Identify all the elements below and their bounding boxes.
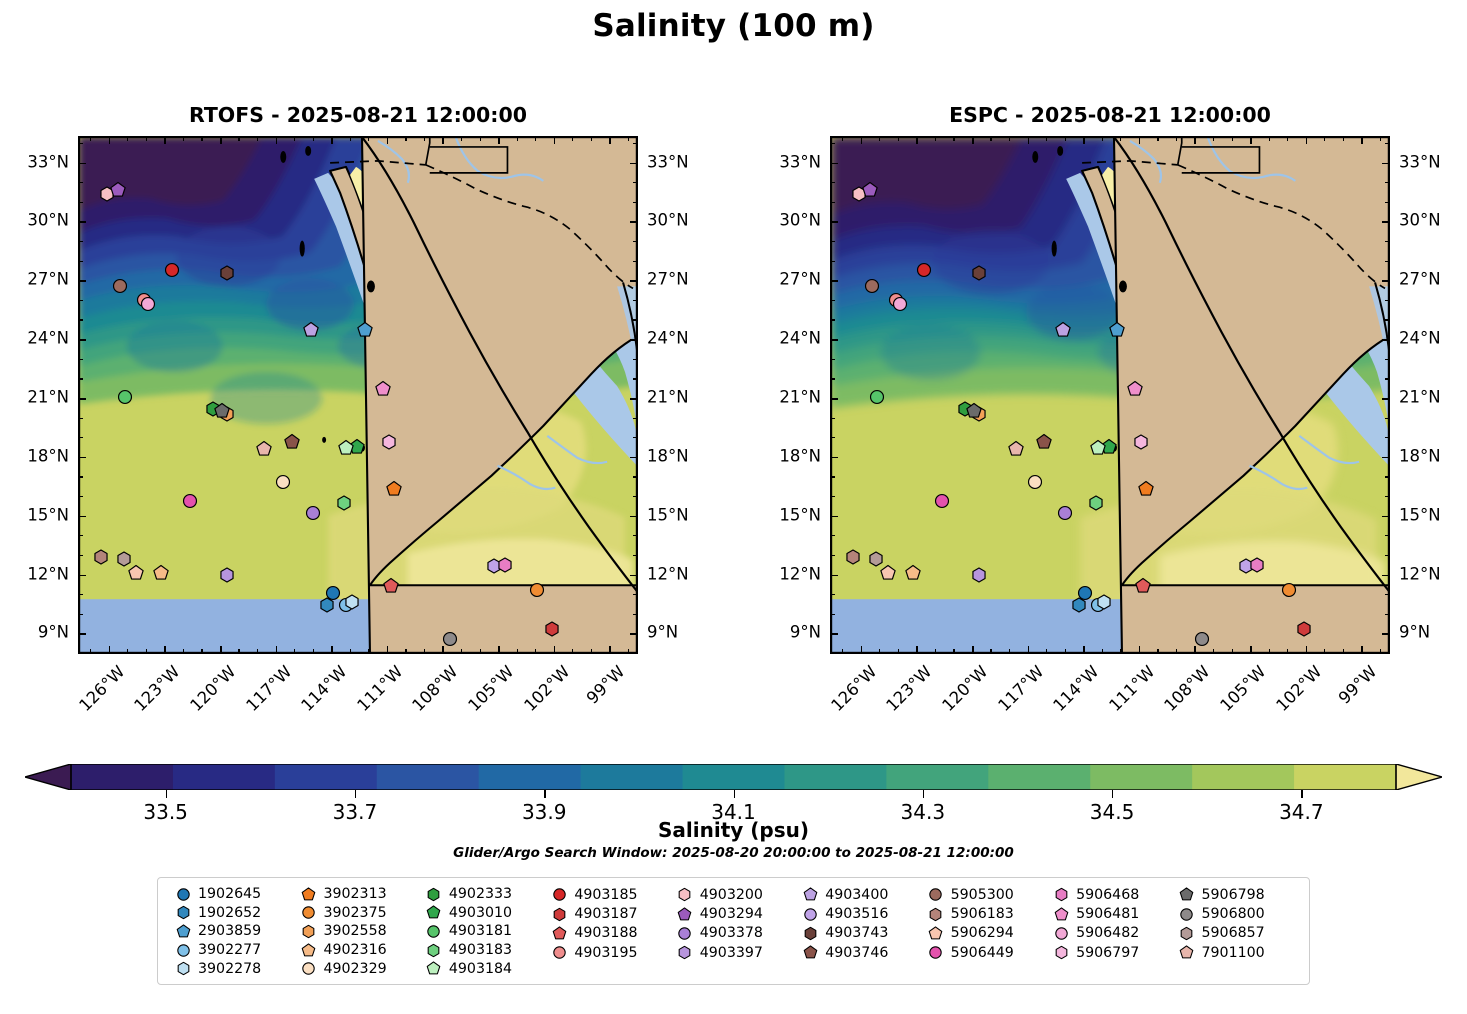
platform-legend[interactable]: 1902645190265229038593902277390227839023… <box>157 877 1310 985</box>
legend-marker-icon <box>1048 926 1074 941</box>
legend-item-label: 5906183 <box>949 906 1014 922</box>
panel-title-espc: ESPC - 2025-08-21 12:00:00 <box>830 103 1390 127</box>
latitude-label: 30°N <box>1399 211 1441 230</box>
legend-item[interactable]: 4903397 <box>672 943 797 962</box>
latitude-label: 18°N <box>647 446 689 465</box>
legend-marker-icon <box>923 945 949 960</box>
legend-item[interactable]: 4903188 <box>546 924 671 943</box>
legend-item[interactable]: 4902316 <box>295 941 420 960</box>
colorbar-tick <box>544 790 545 798</box>
legend-column: 39023133902375390255849023164902329 <box>295 885 420 978</box>
legend-item[interactable]: 5906800 <box>1174 904 1299 923</box>
legend-marker-icon <box>1174 887 1200 902</box>
map-panel-rtofs: RTOFS - 2025-08-21 12:00:00 <box>78 136 638 654</box>
legend-marker-icon <box>295 887 321 902</box>
longitude-label: 117°W <box>994 662 1047 715</box>
latitude-label: 27°N <box>647 270 689 289</box>
legend-marker-icon <box>546 887 572 902</box>
legend-item-label: 4903294 <box>698 906 763 922</box>
legend-marker-icon <box>1174 907 1200 922</box>
legend-item-label: 5905300 <box>949 887 1014 903</box>
latitude-label: 21°N <box>27 387 69 406</box>
legend-item-label: 5906481 <box>1074 906 1139 922</box>
legend-item[interactable]: 3902375 <box>295 904 420 923</box>
legend-item-label: 5906294 <box>949 925 1014 941</box>
legend-item[interactable]: 5906857 <box>1174 924 1299 943</box>
legend-item[interactable]: 4903378 <box>672 924 797 943</box>
legend-item-label: 4902316 <box>321 942 386 958</box>
latitude-label: 24°N <box>27 329 69 348</box>
legend-item-label: 5906797 <box>1074 945 1139 961</box>
longitude-label: 114°W <box>298 662 351 715</box>
latitude-label: 15°N <box>647 505 689 524</box>
latitude-label: 30°N <box>27 211 69 230</box>
legend-item[interactable]: 4902333 <box>421 885 546 904</box>
legend-column: 5905300590618359062945906449 <box>923 885 1048 978</box>
legend-item[interactable]: 5906183 <box>923 904 1048 923</box>
legend-marker-icon <box>170 924 196 939</box>
legend-marker-icon <box>923 926 949 941</box>
colorbar-tick <box>1112 790 1113 798</box>
legend-column: 49023334903010490318149031834903184 <box>421 885 546 978</box>
longitude-label: 120°W <box>938 662 991 715</box>
legend-marker-icon <box>923 907 949 922</box>
legend-item-label: 5906482 <box>1074 925 1139 941</box>
longitude-label: 102°W <box>520 662 573 715</box>
longitude-label: 105°W <box>464 662 517 715</box>
legend-item[interactable]: 5906468 <box>1048 885 1173 904</box>
legend-item-label: 5906798 <box>1200 887 1265 903</box>
legend-item[interactable]: 5906449 <box>923 943 1048 962</box>
legend-marker-icon <box>672 945 698 960</box>
legend-item-label: 2903859 <box>196 923 261 939</box>
longitude-label: 102°W <box>1272 662 1325 715</box>
legend-marker-icon <box>1048 907 1074 922</box>
latitude-label: 12°N <box>27 564 69 583</box>
legend-item[interactable]: 5906797 <box>1048 943 1173 962</box>
latitude-label: 24°N <box>779 329 821 348</box>
legend-item[interactable]: 4903200 <box>672 885 797 904</box>
legend-item[interactable]: 4903746 <box>797 943 922 962</box>
longitude-label: 108°W <box>1161 662 1214 715</box>
legend-item-label: 4902329 <box>321 961 386 977</box>
legend-marker-icon <box>170 961 196 976</box>
legend-item[interactable]: 7901100 <box>1174 943 1299 962</box>
latitude-label: 21°N <box>647 387 689 406</box>
legend-item[interactable]: 3902558 <box>295 922 420 941</box>
colorbar-tick <box>923 790 924 798</box>
legend-item-label: 4903400 <box>823 887 888 903</box>
legend-column: 5906468590648159064825906797 <box>1048 885 1173 978</box>
legend-marker-icon <box>170 943 196 958</box>
colorbar-tick <box>734 790 735 798</box>
legend-marker-icon <box>170 905 196 920</box>
latitude-label: 27°N <box>1399 270 1441 289</box>
legend-item-label: 4903378 <box>698 925 763 941</box>
legend-item-label: 1902645 <box>196 886 261 902</box>
legend-marker-icon <box>1048 887 1074 902</box>
legend-item[interactable]: 5906481 <box>1048 904 1173 923</box>
legend-marker-icon <box>170 887 196 902</box>
latitude-label: 12°N <box>647 564 689 583</box>
longitude-label: 99°W <box>583 662 629 708</box>
legend-item[interactable]: 4903187 <box>546 904 671 923</box>
legend-item-label: 4903188 <box>572 925 637 941</box>
legend-item[interactable]: 1902652 <box>170 904 295 923</box>
colorbar-tick <box>355 790 356 798</box>
legend-item-label: 4903516 <box>823 906 888 922</box>
legend-item-label: 4903185 <box>572 887 637 903</box>
legend-marker-icon <box>546 907 572 922</box>
legend-marker-icon <box>546 945 572 960</box>
latitude-label: 27°N <box>779 270 821 289</box>
latitude-label: 33°N <box>779 152 821 171</box>
latitude-label: 15°N <box>27 505 69 524</box>
colorbar-tick <box>166 790 167 798</box>
legend-item[interactable]: 4902329 <box>295 959 420 978</box>
legend-marker-icon <box>421 943 447 958</box>
legend-marker-icon <box>1174 945 1200 960</box>
longitude-label: 117°W <box>242 662 295 715</box>
longitude-label: 108°W <box>409 662 462 715</box>
legend-item-label: 3902375 <box>321 905 386 921</box>
latitude-label: 30°N <box>779 211 821 230</box>
longitude-label: 123°W <box>131 662 184 715</box>
legend-item[interactable]: 3902313 <box>295 885 420 904</box>
latitude-label: 12°N <box>1399 564 1441 583</box>
legend-column: 5906798590680059068577901100 <box>1174 885 1299 978</box>
legend-column: 4903400490351649037434903746 <box>797 885 922 978</box>
legend-item-label: 4903743 <box>823 925 888 941</box>
legend-column: 19026451902652290385939022773902278 <box>170 885 295 978</box>
legend-item[interactable]: 4903184 <box>421 959 546 978</box>
map-panel-espc: ESPC - 2025-08-21 12:00:00 <box>830 136 1390 654</box>
legend-marker-icon <box>1048 945 1074 960</box>
legend-item[interactable]: 3902278 <box>170 959 295 978</box>
legend-marker-icon <box>421 905 447 920</box>
legend-column: 4903185490318749031884903195 <box>546 885 671 978</box>
legend-item[interactable]: 4903400 <box>797 885 922 904</box>
legend-item-label: 4903181 <box>447 923 512 939</box>
legend-marker-icon <box>295 924 321 939</box>
latitude-label: 21°N <box>779 387 821 406</box>
legend-marker-icon <box>672 926 698 941</box>
figure-title: Salinity (100 m) <box>0 8 1467 44</box>
legend-marker-icon <box>546 926 572 941</box>
latitude-label: 30°N <box>647 211 689 230</box>
colorbar-label: Salinity (psu) <box>0 818 1467 842</box>
latitude-label: 33°N <box>27 152 69 171</box>
latitude-label: 33°N <box>647 152 689 171</box>
longitude-label: 120°W <box>186 662 239 715</box>
legend-marker-icon <box>295 943 321 958</box>
longitude-labels-right: 126°W123°W120°W117°W114°W111°W108°W105°W… <box>830 136 1390 654</box>
legend-item[interactable]: 5906798 <box>1174 885 1299 904</box>
latitude-label: 33°N <box>1399 152 1441 171</box>
legend-marker-icon <box>672 907 698 922</box>
panel-title-rtofs: RTOFS - 2025-08-21 12:00:00 <box>78 103 638 127</box>
legend-item[interactable]: 1902645 <box>170 885 295 904</box>
legend-item-label: 7901100 <box>1200 945 1265 961</box>
legend-item[interactable]: 4903516 <box>797 904 922 923</box>
legend-item-label: 5906857 <box>1200 925 1265 941</box>
legend-marker-icon <box>797 907 823 922</box>
latitude-label: 15°N <box>779 505 821 524</box>
latitude-label: 12°N <box>779 564 821 583</box>
legend-item-label: 4903397 <box>698 945 763 961</box>
search-window-note: Glider/Argo Search Window: 2025-08-20 20… <box>0 845 1467 861</box>
legend-item[interactable]: 4903743 <box>797 924 922 943</box>
latitude-label: 24°N <box>1399 329 1441 348</box>
legend-item-label: 4903195 <box>572 945 637 961</box>
legend-marker-icon <box>1174 926 1200 941</box>
legend-marker-icon <box>421 961 447 976</box>
legend-item[interactable]: 4903195 <box>546 943 671 962</box>
longitude-label: 99°W <box>1335 662 1381 708</box>
latitude-label: 27°N <box>27 270 69 289</box>
legend-item[interactable]: 2903859 <box>170 922 295 941</box>
legend-marker-icon <box>797 926 823 941</box>
longitude-label: 111°W <box>353 662 406 715</box>
longitude-labels-left: 126°W123°W120°W117°W114°W111°W108°W105°W… <box>78 136 638 654</box>
figure-canvas: Salinity (100 m) RTOFS - 2025-08-21 12:0… <box>0 0 1467 1014</box>
legend-item-label: 4902333 <box>447 886 512 902</box>
legend-item[interactable]: 5906294 <box>923 924 1048 943</box>
legend-marker-icon <box>295 905 321 920</box>
latitude-label: 9°N <box>38 623 69 642</box>
legend-item-label: 3902313 <box>321 886 386 902</box>
latitude-label: 15°N <box>1399 505 1441 524</box>
legend-item-label: 3902277 <box>196 942 261 958</box>
latitude-label: 18°N <box>27 446 69 465</box>
latitude-label: 9°N <box>1399 623 1430 642</box>
longitude-label: 126°W <box>827 662 880 715</box>
legend-marker-icon <box>295 961 321 976</box>
legend-item-label: 3902558 <box>321 923 386 939</box>
legend-item[interactable]: 4903185 <box>546 885 671 904</box>
legend-column: 4903200490329449033784903397 <box>672 885 797 978</box>
legend-marker-icon <box>672 887 698 902</box>
legend-item[interactable]: 4903294 <box>672 904 797 923</box>
latitude-label: 18°N <box>779 446 821 465</box>
legend-item[interactable]: 5906482 <box>1048 924 1173 943</box>
longitude-label: 114°W <box>1050 662 1103 715</box>
legend-marker-icon <box>421 887 447 902</box>
legend-marker-icon <box>421 924 447 939</box>
legend-item-label: 1902652 <box>196 905 261 921</box>
longitude-label: 111°W <box>1105 662 1158 715</box>
legend-marker-icon <box>797 887 823 902</box>
legend-marker-icon <box>797 945 823 960</box>
legend-item-label: 5906449 <box>949 945 1014 961</box>
longitude-label: 105°W <box>1216 662 1269 715</box>
legend-item-label: 4903187 <box>572 906 637 922</box>
legend-item-label: 4903200 <box>698 887 763 903</box>
legend-item-label: 5906468 <box>1074 887 1139 903</box>
longitude-label: 123°W <box>883 662 936 715</box>
legend-item-label: 4903010 <box>447 905 512 921</box>
latitude-label: 21°N <box>1399 387 1441 406</box>
latitude-label: 9°N <box>647 623 678 642</box>
longitude-label: 126°W <box>75 662 128 715</box>
legend-item-label: 5906800 <box>1200 906 1265 922</box>
latitude-label: 18°N <box>1399 446 1441 465</box>
colorbar-tick <box>1301 790 1302 798</box>
legend-item[interactable]: 5905300 <box>923 885 1048 904</box>
legend-item-label: 4903184 <box>447 961 512 977</box>
legend-item[interactable]: 4903181 <box>421 922 546 941</box>
legend-item[interactable]: 4903010 <box>421 904 546 923</box>
legend-item-label: 3902278 <box>196 961 261 977</box>
legend-marker-icon <box>923 887 949 902</box>
legend-item[interactable]: 3902277 <box>170 941 295 960</box>
legend-item-label: 4903746 <box>823 945 888 961</box>
latitude-label: 24°N <box>647 329 689 348</box>
latitude-label: 9°N <box>790 623 821 642</box>
legend-item[interactable]: 4903183 <box>421 941 546 960</box>
legend-item-label: 4903183 <box>447 942 512 958</box>
